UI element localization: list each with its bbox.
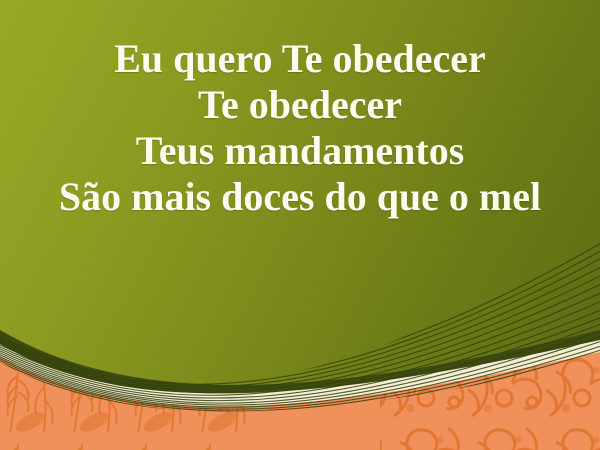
- lyric-line-3: Teus mandamentos: [0, 128, 600, 174]
- presentation-slide: Eu quero Te obedecer Te obedecer Teus ma…: [0, 0, 600, 450]
- lyric-line-1: Eu quero Te obedecer: [0, 36, 600, 82]
- lyric-line-4: São mais doces do que o mel: [0, 174, 600, 220]
- lyric-line-2: Te obedecer: [0, 82, 600, 128]
- lyrics-text-block: Eu quero Te obedecer Te obedecer Teus ma…: [0, 0, 600, 220]
